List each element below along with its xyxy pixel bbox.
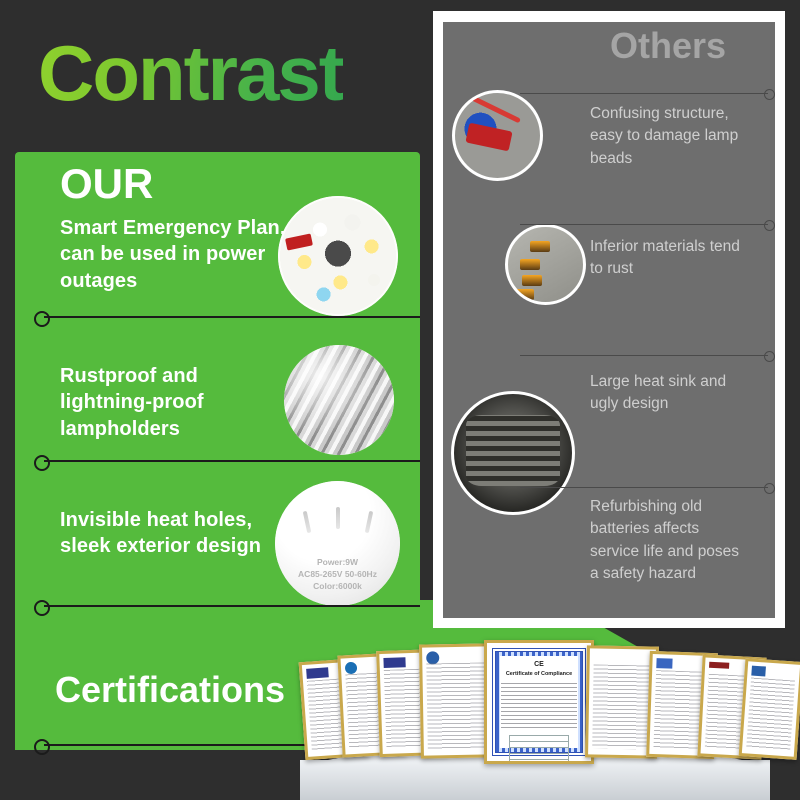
others-item-3-label: Large heat sink and ugly design: [590, 371, 740, 416]
others-divider-3: [520, 355, 768, 356]
our-divider-2: [44, 460, 420, 462]
certifications-heading: Certifications: [55, 672, 285, 708]
others-divider-4: [520, 487, 768, 488]
others-item-2-label: Inferior materials tend to rust: [590, 236, 740, 281]
bulb-spec-color: Color:6000k: [275, 581, 400, 593]
our-divider-dot-3: [34, 600, 50, 616]
our-item-2: Rustproof and lightning-proof lampholder…: [60, 363, 295, 442]
our-item-3: Invisible heat holes, sleek exterior des…: [60, 507, 295, 560]
our-divider-dot-2: [34, 455, 50, 471]
our-item-2-label: Rustproof and lightning-proof lampholder…: [60, 363, 295, 442]
others-item-1-label: Confusing structure, easy to damage lamp…: [590, 103, 740, 170]
others-divider-1: [520, 93, 768, 94]
tangled-wires-photo: [452, 90, 543, 181]
certifications-divider: [44, 744, 334, 746]
our-item-1-label: Smart Emergency Plan, can be used in pow…: [60, 215, 295, 294]
our-divider-dot-1: [34, 311, 50, 327]
ce-mark-label: CE: [487, 661, 591, 668]
rusty-screw-base-photo: [451, 391, 575, 515]
bulb-spec-power: Power:9W: [275, 557, 400, 569]
bulb-spec-voltage: AC85-265V 50-60Hz: [275, 569, 400, 581]
page-title: Contrast: [38, 34, 343, 112]
led-pcb-board-photo: [278, 196, 398, 316]
white-bulb-photo: Power:9W AC85-265V 50-60Hz Color:6000k: [275, 481, 400, 606]
our-divider-1: [44, 316, 420, 318]
certifications-divider-dot: [34, 739, 50, 755]
others-divider-dot-3: [764, 351, 775, 362]
others-divider-dot-1: [764, 89, 775, 100]
chrome-lampholder-photo: [284, 345, 394, 455]
our-heading: OUR: [60, 163, 153, 205]
bulb-spec-text: Power:9W AC85-265V 50-60Hz Color:6000k: [275, 557, 400, 593]
certificate-4: [419, 643, 493, 758]
our-item-3-label: Invisible heat holes, sleek exterior des…: [60, 507, 295, 560]
infographic-canvas: Contrast OUR Smart Emergency Plan, can b…: [0, 0, 800, 800]
our-divider-3: [44, 605, 420, 607]
certificate-featured-ce: CE Certificate of Compliance: [484, 640, 594, 764]
ce-certificate-title: Certificate of Compliance: [487, 671, 591, 677]
our-item-1: Smart Emergency Plan, can be used in pow…: [60, 215, 295, 294]
others-divider-2: [520, 224, 768, 225]
lamp-beads-photo: [505, 224, 586, 305]
others-heading: Others: [610, 28, 726, 64]
others-divider-dot-4: [764, 483, 775, 494]
others-divider-dot-2: [764, 220, 775, 231]
certificate-8: [739, 658, 800, 760]
others-item-4-label: Refurbishing old batteries affects servi…: [590, 496, 750, 586]
